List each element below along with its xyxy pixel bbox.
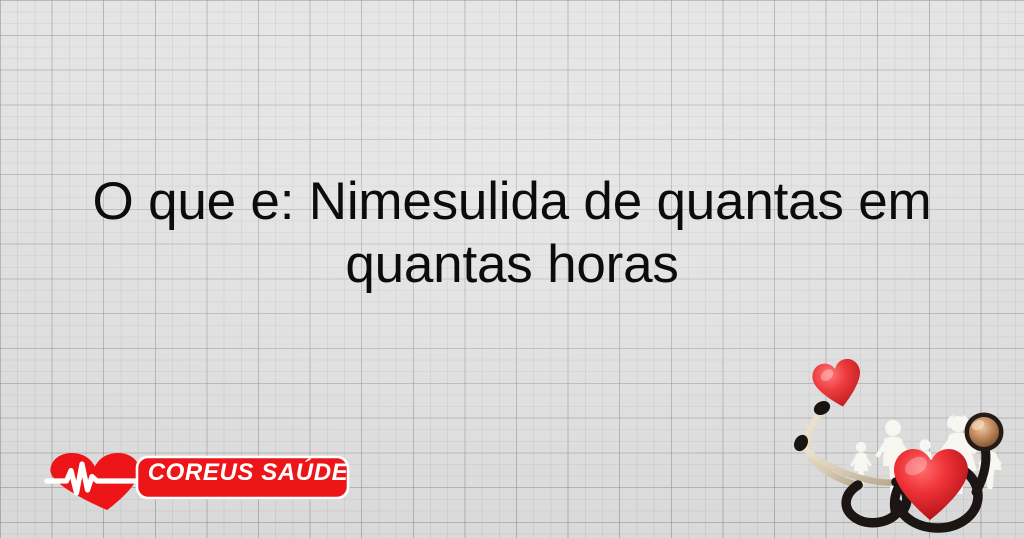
page-title-line-1: O que e: Nimesulida de quantas em	[28, 170, 996, 233]
health-illustration	[792, 352, 1022, 538]
brand-pill	[137, 457, 348, 498]
page-title: O que e: Nimesulida de quantas em quanta…	[0, 170, 1024, 296]
brand-logo[interactable]: COREUS SAÚDE	[28, 450, 350, 512]
stethoscope-chestpiece-icon	[965, 413, 1004, 452]
slide-canvas: O que e: Nimesulida de quantas em quanta…	[0, 0, 1024, 538]
ear-tip-left	[811, 398, 832, 417]
page-title-line-2: quantas horas	[28, 233, 996, 296]
